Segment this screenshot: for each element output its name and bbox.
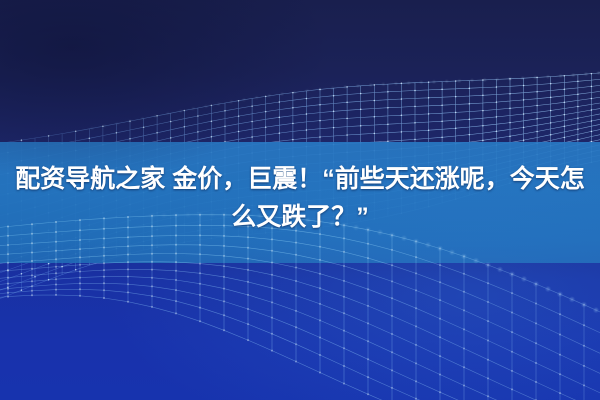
banner-headline: 配资导航之家 金价，巨震！“前些天还涨呢，今天怎么又跌了？” [0,160,600,236]
news-banner-image: 配资导航之家 金价，巨震！“前些天还涨呢，今天怎么又跌了？” [0,0,600,400]
